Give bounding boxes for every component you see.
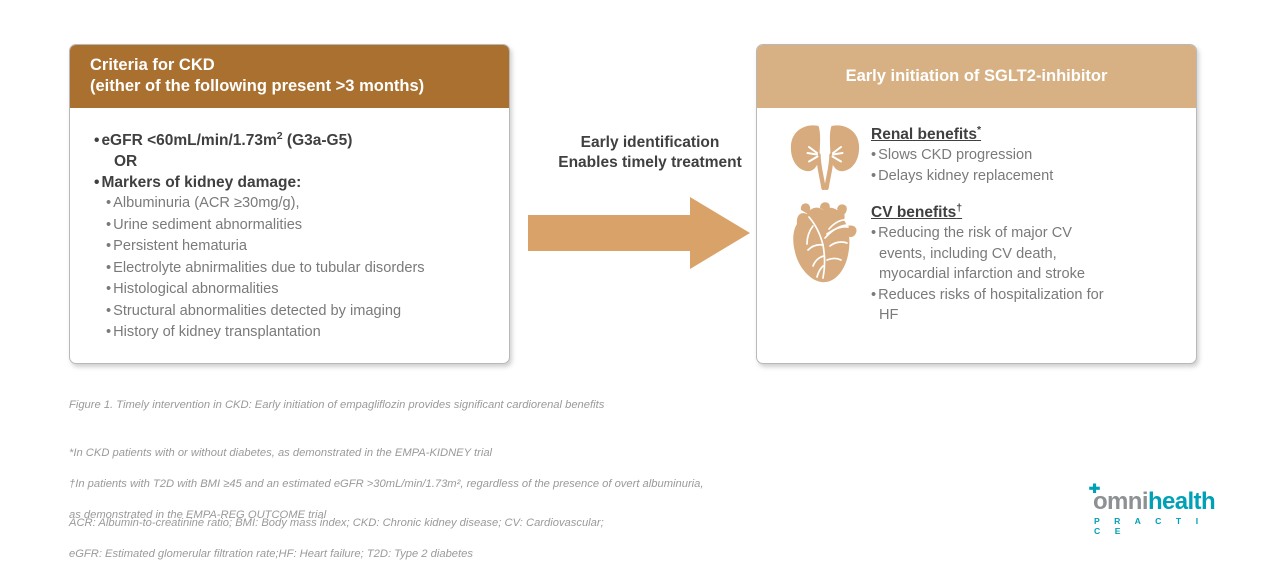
right-arrow-icon (528, 197, 750, 269)
renal-benefits-row: Renal benefits* Slows CKD progression De… (757, 108, 1196, 190)
logo-wordmark: omnihealth (1088, 490, 1220, 514)
heart-icon (787, 200, 863, 286)
criteria-marker-item: Histological abnormalities (88, 279, 495, 301)
cv-benefits-row: CV benefits† Reducing the risk of major … (757, 190, 1196, 326)
abbreviations-line1: ACR: Albumin-to-creatinine ratio; BMI: B… (69, 516, 604, 532)
criteria-marker-item: Structural abnormalities detected by ima… (88, 301, 495, 323)
arrow-label-line2: Enables timely treatment (528, 153, 772, 173)
criteria-marker-item: History of kidney transplantation (88, 322, 495, 344)
abbreviations-block: ACR: Albumin-to-creatinine ratio; BMI: B… (69, 500, 604, 578)
criteria-panel-body: eGFR <60mL/min/1.73m2 (G3a-G5) OR Marker… (70, 108, 509, 344)
kidneys-icon-cell (779, 122, 871, 190)
renal-benefits-title: Renal benefits* (871, 124, 981, 144)
cv-benefit-item: Reduces risks of hospitalization for HF (871, 285, 1111, 326)
renal-benefits-footnote-marker: * (977, 124, 981, 136)
footnote-dagger-line1: †In patients with T2D with BMI ≥45 and a… (69, 477, 704, 493)
criteria-markers-label: Markers of kidney damage: (88, 172, 495, 193)
heart-icon-cell (779, 200, 871, 286)
criteria-marker-item: Electrolyte abnirmalities due to tubular… (88, 258, 495, 280)
renal-benefits-title-text: Renal benefits (871, 126, 977, 143)
figure-caption: Figure 1. Timely intervention in CKD: Ea… (69, 398, 604, 414)
logo-cross-bubble-icon (1088, 483, 1103, 498)
omnihealth-practice-logo: omnihealth P R A C T I C E (1088, 490, 1220, 536)
criteria-egfr-suffix: (G3a-G5) (283, 132, 353, 149)
renal-benefit-item: Slows CKD progression (871, 145, 1053, 166)
criteria-egfr-item: eGFR <60mL/min/1.73m2 (G3a-G5) (88, 126, 495, 151)
criteria-or-label: OR (88, 151, 495, 172)
sglt2-panel-header: Early initiation of SGLT2-inhibitor (757, 45, 1196, 108)
abbreviations-line2: eGFR: Estimated glomerular filtration ra… (69, 547, 604, 563)
criteria-marker-item: Persistent hematuria (88, 236, 495, 258)
cv-benefit-item: Reducing the risk of major CV events, in… (871, 223, 1111, 285)
cv-benefits-text: CV benefits† Reducing the risk of major … (871, 200, 1111, 326)
criteria-header-line2: (either of the following present >3 mont… (90, 76, 509, 97)
logo-word-health: health (1148, 488, 1215, 515)
cv-benefits-title: CV benefits† (871, 202, 962, 222)
kidneys-icon (788, 122, 862, 190)
criteria-marker-item: Albuminuria (ACR ≥30mg/g), (88, 193, 495, 215)
sglt2-inhibitor-panel: Early initiation of SGLT2-inhibitor Rena… (756, 44, 1197, 364)
criteria-header-line1: Criteria for CKD (90, 55, 509, 76)
footnote-star: *In CKD patients with or without diabete… (69, 446, 704, 462)
criteria-panel-header: Criteria for CKD (either of the followin… (70, 45, 509, 108)
renal-benefit-item: Delays kidney replacement (871, 166, 1053, 187)
criteria-marker-item: Urine sediment abnormalities (88, 215, 495, 237)
renal-benefits-text: Renal benefits* Slows CKD progression De… (871, 122, 1053, 186)
arrow-label: Early identification Enables timely trea… (528, 133, 772, 173)
cv-benefits-title-text: CV benefits (871, 204, 956, 221)
criteria-for-ckd-panel: Criteria for CKD (either of the followin… (69, 44, 510, 364)
cv-benefits-footnote-marker: † (956, 202, 962, 214)
logo-tagline: P R A C T I C E (1088, 516, 1220, 536)
arrow-label-line1: Early identification (528, 133, 772, 153)
criteria-egfr-text: eGFR <60mL/min/1.73m (101, 132, 276, 149)
